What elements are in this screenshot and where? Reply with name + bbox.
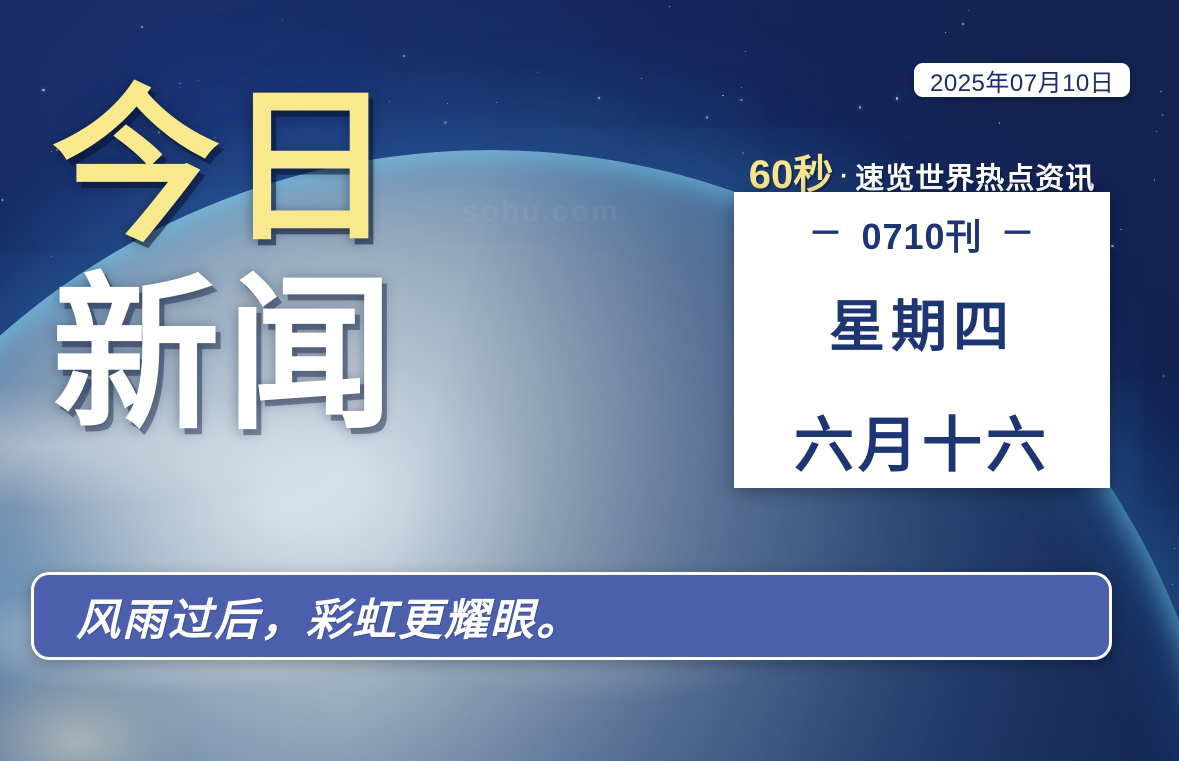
issue-dash-left: － (808, 217, 843, 251)
weekday-label: 星期四 (829, 282, 1015, 363)
headline-line-1: 今日 (52, 88, 472, 248)
tagline-rest: 速览世界热点资讯 (855, 155, 1095, 197)
issue-number: 0710刊 (861, 208, 982, 260)
date-info-card: － 0710刊 － 星期四 六月十六 (734, 192, 1110, 488)
quote-text: 风雨过后，彩虹更耀眼。 (76, 584, 582, 648)
issue-row: － 0710刊 － (808, 208, 1035, 260)
headline-line-2: 新闻 (52, 276, 472, 436)
date-badge: 2025年07月10日 (914, 63, 1130, 97)
tagline-separator-dot: · (837, 163, 851, 191)
issue-dash-right: － (1001, 217, 1036, 251)
lunar-date-label: 六月十六 (794, 397, 1050, 484)
news-poster: sohu.com 今日 新闻 2025年07月10日 60秒 · 速览世界热点资… (0, 0, 1179, 761)
watermark-text: sohu.com (462, 195, 620, 229)
page-title: 今日 新闻 (52, 88, 472, 435)
quote-bar: 风雨过后，彩虹更耀眼。 (31, 572, 1112, 660)
